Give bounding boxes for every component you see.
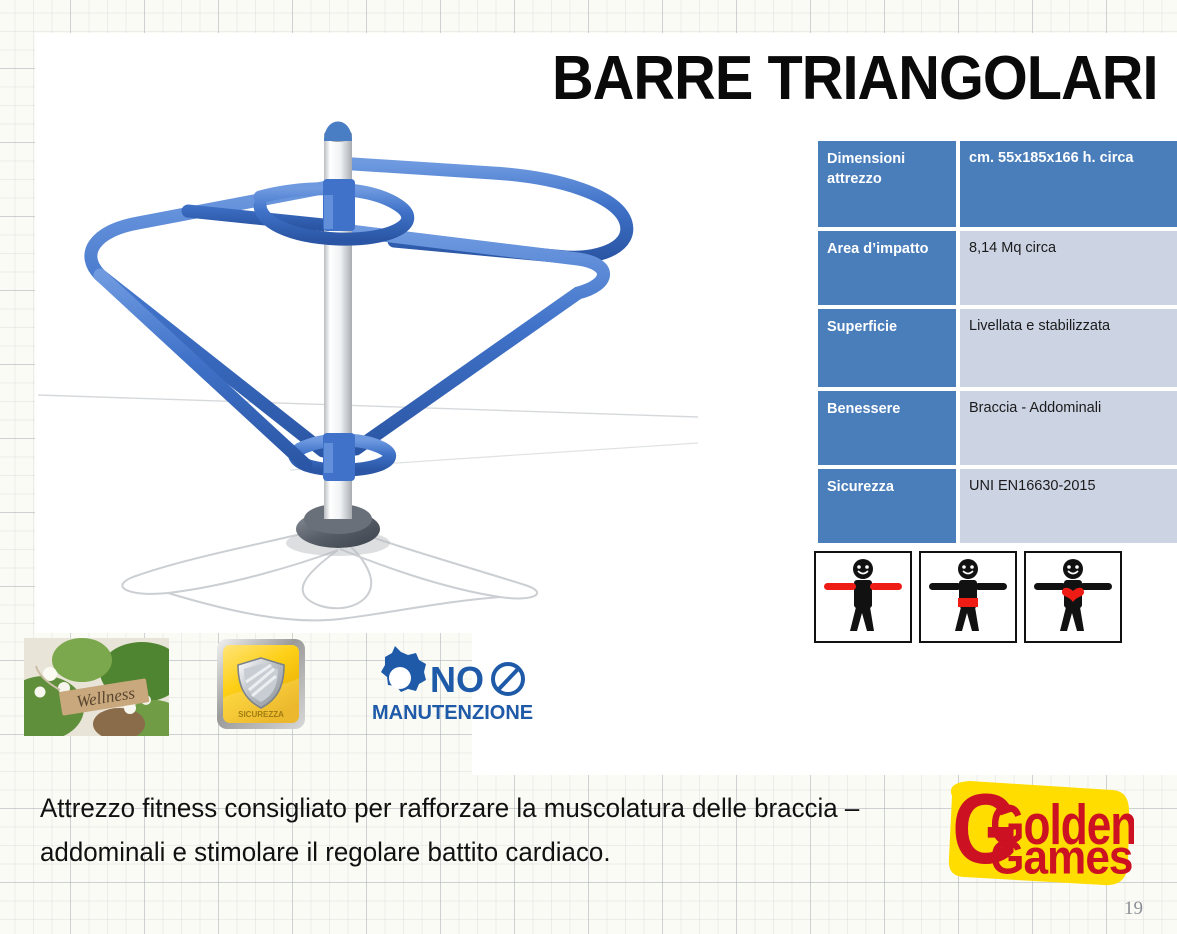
table-row: Benessere Braccia - Addominali (818, 391, 1177, 465)
specifications-table: Dimensioni attrezzo cm. 55x185x166 h. ci… (818, 137, 1177, 547)
security-badge: SICUREZZA (216, 638, 306, 730)
description-caption: Attrezzo fitness consigliato per rafforz… (40, 786, 885, 874)
spec-label-benessere: Benessere (818, 391, 960, 465)
page-number: 19 (1124, 898, 1143, 920)
no-maintenance-badge: NO MANUTENZIONE (368, 638, 553, 731)
spec-value-superficie: Livellata e stabilizzata (960, 309, 1177, 387)
spec-value-dimensioni: cm. 55x185x166 h. circa (960, 141, 1177, 227)
table-row: Superficie Livellata e stabilizzata (818, 309, 1177, 387)
spec-label-superficie: Superficie (818, 309, 960, 387)
logo-line2: Games (990, 830, 1132, 884)
pictogram-abdomen-icon (919, 551, 1017, 643)
pictogram-heart-icon (1024, 551, 1122, 643)
spec-value-sicurezza: UNI EN16630-2015 (960, 469, 1177, 543)
spec-value-benessere: Braccia - Addominali (960, 391, 1177, 465)
spec-label-dimensioni: Dimensioni attrezzo (818, 141, 960, 227)
body-part-pictograms (814, 551, 1122, 643)
table-row: Dimensioni attrezzo cm. 55x185x166 h. ci… (818, 141, 1177, 227)
table-row: Sicurezza UNI EN16630-2015 (818, 469, 1177, 543)
spec-label-area: Area d’impatto (818, 231, 960, 305)
golden-games-logo: G Golden Games (944, 778, 1134, 898)
spec-value-area: 8,14 Mq circa (960, 231, 1177, 305)
product-image (38, 45, 698, 635)
slide-background: BARRE TRIANGOLARI Dimensioni attrezzo cm… (0, 0, 1177, 934)
pictogram-arms-icon (814, 551, 912, 643)
feature-badges: Wellness (24, 638, 553, 736)
spec-label-sicurezza: Sicurezza (818, 469, 960, 543)
maintenance-no-label: NO (430, 659, 484, 700)
wellness-badge: Wellness (24, 638, 169, 736)
table-row: Area d’impatto 8,14 Mq circa (818, 231, 1177, 305)
security-label: SICUREZZA (238, 710, 284, 719)
maintenance-label: MANUTENZIONE (372, 702, 533, 724)
page-title: BARRE TRIANGOLARI (552, 48, 1158, 110)
